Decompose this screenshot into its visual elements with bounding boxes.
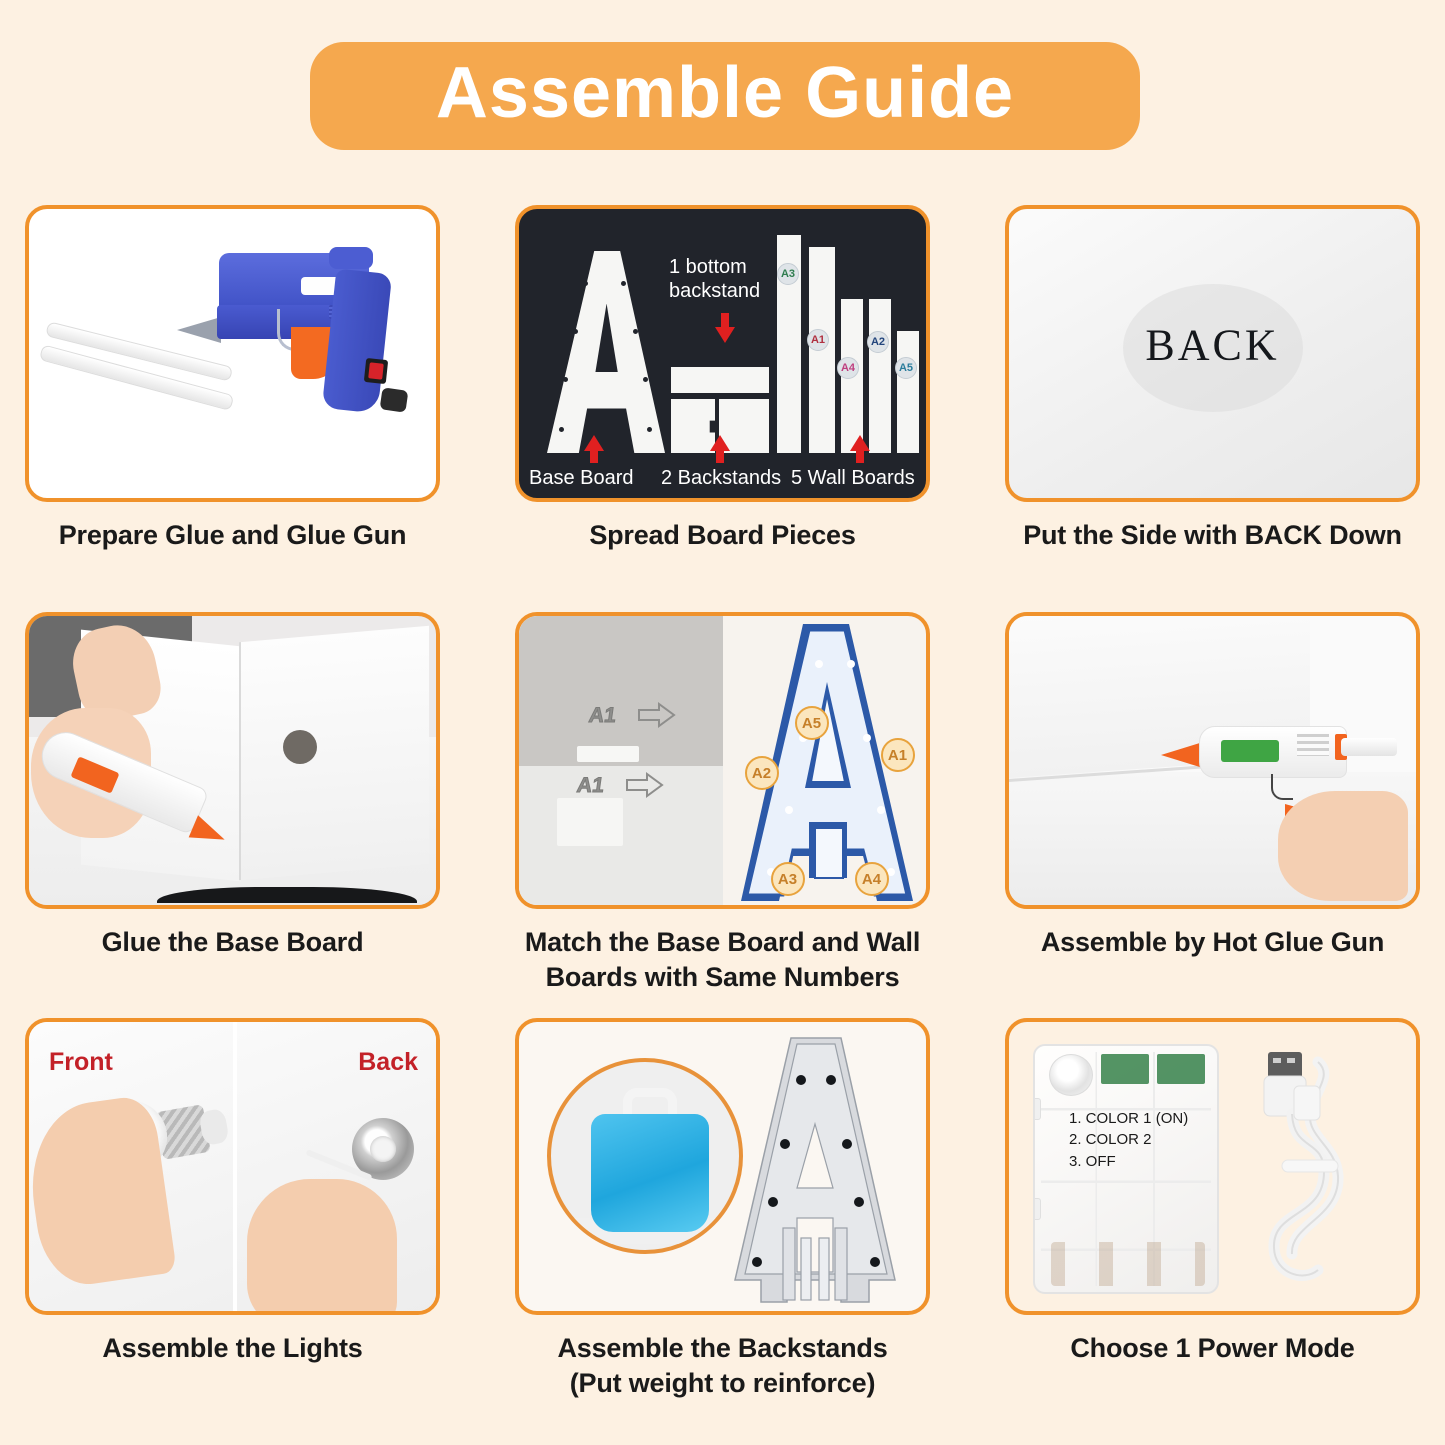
light-hole-icon	[559, 427, 564, 432]
steps-row-2: Glue the Base Board A1 A1	[0, 612, 1445, 994]
arrow-up-icon	[709, 435, 730, 463]
steps-row-3: Front Back Assemble the Lights	[0, 1018, 1445, 1400]
letter-badge-a2: A2	[745, 756, 779, 790]
water-bag-weight	[591, 1114, 709, 1232]
base-board-letter-a	[547, 251, 665, 453]
glue-gun-power-switch-icon	[364, 358, 388, 384]
step-card-3: BACK Put the Side with BACK Down	[1005, 205, 1420, 553]
glue-gun-top-knob	[329, 247, 373, 269]
page-title-banner: Assemble Guide	[310, 42, 1140, 150]
label-5-wall-boards: 5 Wall Boards	[791, 467, 915, 490]
letter-badge-a1: A1	[881, 738, 915, 772]
step-image-assemble-the-lights: Front Back	[25, 1018, 440, 1315]
step-image-choose-power-mode: 1. COLOR 1 (ON) 2. COLOR 2 3. OFF	[1005, 1018, 1420, 1315]
light-hole-icon	[643, 377, 648, 382]
glue-gun-vent-icon	[1297, 734, 1329, 756]
letter-badge-a4: A4	[855, 862, 889, 896]
step-card-4: Glue the Base Board	[25, 612, 440, 994]
light-hole-icon	[621, 281, 626, 286]
step-caption-5-line2: Boards with Same Numbers	[515, 960, 930, 995]
light-hole-icon	[647, 427, 652, 432]
battery-box-tab	[1033, 1198, 1041, 1220]
battery-box: 1. COLOR 1 (ON) 2. COLOR 2 3. OFF	[1033, 1044, 1219, 1294]
glue-stick-icon	[1341, 738, 1397, 756]
light-hole-icon	[573, 329, 578, 334]
letter-a-3d-render: A5 A2 A1 A3 A4	[723, 616, 927, 905]
hand-inserting-socket	[247, 1179, 397, 1311]
board-marking-a1-upper: A1	[587, 704, 617, 728]
step-image-assemble-the-backstands	[515, 1018, 930, 1315]
water-bag-closeup-ring	[547, 1058, 743, 1254]
arrow-down-icon	[715, 313, 735, 343]
glue-gun-cord-cap	[380, 387, 409, 412]
step-image-spread-board-pieces: A3 A1 A4 A2 A5 1 bottom backstand	[515, 205, 930, 502]
wall-board-a5	[897, 331, 919, 453]
step-caption-5-line1: Match the Base Board and Wall	[525, 927, 920, 957]
arrow-right-icon	[625, 772, 665, 798]
step-image-prepare-glue-and-glue-gun	[25, 205, 440, 502]
back-marking-text: BACK	[1145, 319, 1279, 370]
step-caption-3: Put the Side with BACK Down	[1005, 518, 1420, 553]
step-image-match-numbers: A1 A1	[515, 612, 930, 909]
step-card-2: A3 A1 A4 A2 A5 1 bottom backstand	[515, 205, 930, 553]
bulb-back-photo: Back	[233, 1022, 437, 1311]
step-card-9: 1. COLOR 1 (ON) 2. COLOR 2 3. OFF	[1005, 1018, 1420, 1400]
letter-a-with-backstands	[717, 1032, 912, 1310]
table-edge-shadow	[157, 887, 417, 903]
step-card-1: Prepare Glue and Glue Gun	[25, 205, 440, 553]
page-title: Assemble Guide	[436, 57, 1014, 135]
circuit-chip	[1157, 1054, 1205, 1084]
power-mode-option-3: 3. OFF	[1069, 1151, 1188, 1172]
wall-badge-a4: A4	[837, 357, 859, 379]
step-card-6: Assemble by Hot Glue Gun	[1005, 612, 1420, 994]
light-hole-icon	[583, 281, 588, 286]
light-hole-icon	[563, 377, 568, 382]
steps-row-1: Prepare Glue and Glue Gun	[0, 205, 1445, 553]
board-tab	[557, 798, 623, 846]
wall-badge-a2: A2	[867, 331, 889, 353]
step-card-8: Assemble the Backstands (Put weight to r…	[515, 1018, 930, 1400]
step-caption-8-line2: (Put weight to reinforce)	[515, 1366, 930, 1401]
wall-badge-a3: A3	[777, 263, 799, 285]
board-tab	[577, 746, 639, 762]
bulb-front-photo: Front	[29, 1022, 233, 1311]
power-mode-option-2: 2. COLOR 2	[1069, 1129, 1188, 1150]
glue-gun-stand-wire	[1271, 774, 1293, 800]
power-mode-option-1: 1. COLOR 1 (ON)	[1069, 1108, 1188, 1129]
board-marking-a1-lower: A1	[575, 774, 605, 798]
battery-box-tab	[1033, 1098, 1041, 1120]
step-caption-7: Assemble the Lights	[25, 1331, 440, 1366]
step-caption-5: Match the Base Board and Wall Boards wit…	[515, 925, 930, 994]
wall-badge-a5: A5	[895, 357, 917, 379]
bottom-backstand-piece	[671, 367, 769, 393]
step-card-5: A1 A1	[515, 612, 930, 994]
hand-holding-bulb	[29, 1094, 177, 1291]
step-image-assemble-by-hot-glue-gun	[1005, 612, 1420, 909]
step-image-glue-the-base-board	[25, 612, 440, 909]
back-label: Back	[358, 1048, 418, 1077]
glue-gun-nozzle-icon	[177, 317, 221, 343]
glue-gun-label	[1221, 740, 1279, 762]
arrow-right-icon	[637, 702, 677, 728]
photo-board-markings: A1 A1	[519, 616, 723, 905]
arrow-up-icon	[583, 435, 604, 463]
step-caption-9: Choose 1 Power Mode	[1005, 1331, 1420, 1366]
step-caption-8: Assemble the Backstands (Put weight to r…	[515, 1331, 930, 1400]
mode-switch-knob-icon[interactable]	[1049, 1054, 1093, 1096]
battery-cells	[1051, 1242, 1205, 1286]
step-caption-2: Spread Board Pieces	[515, 518, 930, 553]
letter-badge-a3: A3	[771, 862, 805, 896]
glue-gun-nozzle-icon	[1161, 742, 1203, 768]
front-label: Front	[49, 1048, 113, 1077]
step-caption-1: Prepare Glue and Glue Gun	[25, 518, 440, 553]
hand-holding-glue-gun	[1278, 791, 1408, 901]
base-board-right	[239, 626, 429, 881]
step-caption-6: Assemble by Hot Glue Gun	[1005, 925, 1420, 960]
label-2-backstands: 2 Backstands	[661, 467, 781, 490]
note-line-1: 1 bottom	[669, 255, 760, 279]
wall-badge-a1: A1	[807, 329, 829, 351]
circuit-chip	[1101, 1054, 1149, 1084]
arrow-up-icon	[849, 435, 870, 463]
wall-board-a2	[869, 299, 891, 453]
wall-board-surface	[519, 616, 723, 766]
step-card-7: Front Back Assemble the Lights	[25, 1018, 440, 1400]
label-base-board: Base Board	[529, 467, 634, 490]
power-mode-list: 1. COLOR 1 (ON) 2. COLOR 2 3. OFF	[1069, 1108, 1188, 1172]
step-image-put-back-side-down: BACK	[1005, 205, 1420, 502]
usb-cable	[1232, 1042, 1392, 1297]
letter-badge-a5: A5	[795, 706, 829, 740]
light-hole-icon	[633, 329, 638, 334]
step-caption-8-line1: Assemble the Backstands	[557, 1333, 887, 1363]
bottom-backstand-note: 1 bottom backstand	[669, 255, 760, 303]
light-hole-icon	[283, 730, 317, 764]
note-line-2: backstand	[669, 279, 760, 303]
step-caption-4: Glue the Base Board	[25, 925, 440, 960]
